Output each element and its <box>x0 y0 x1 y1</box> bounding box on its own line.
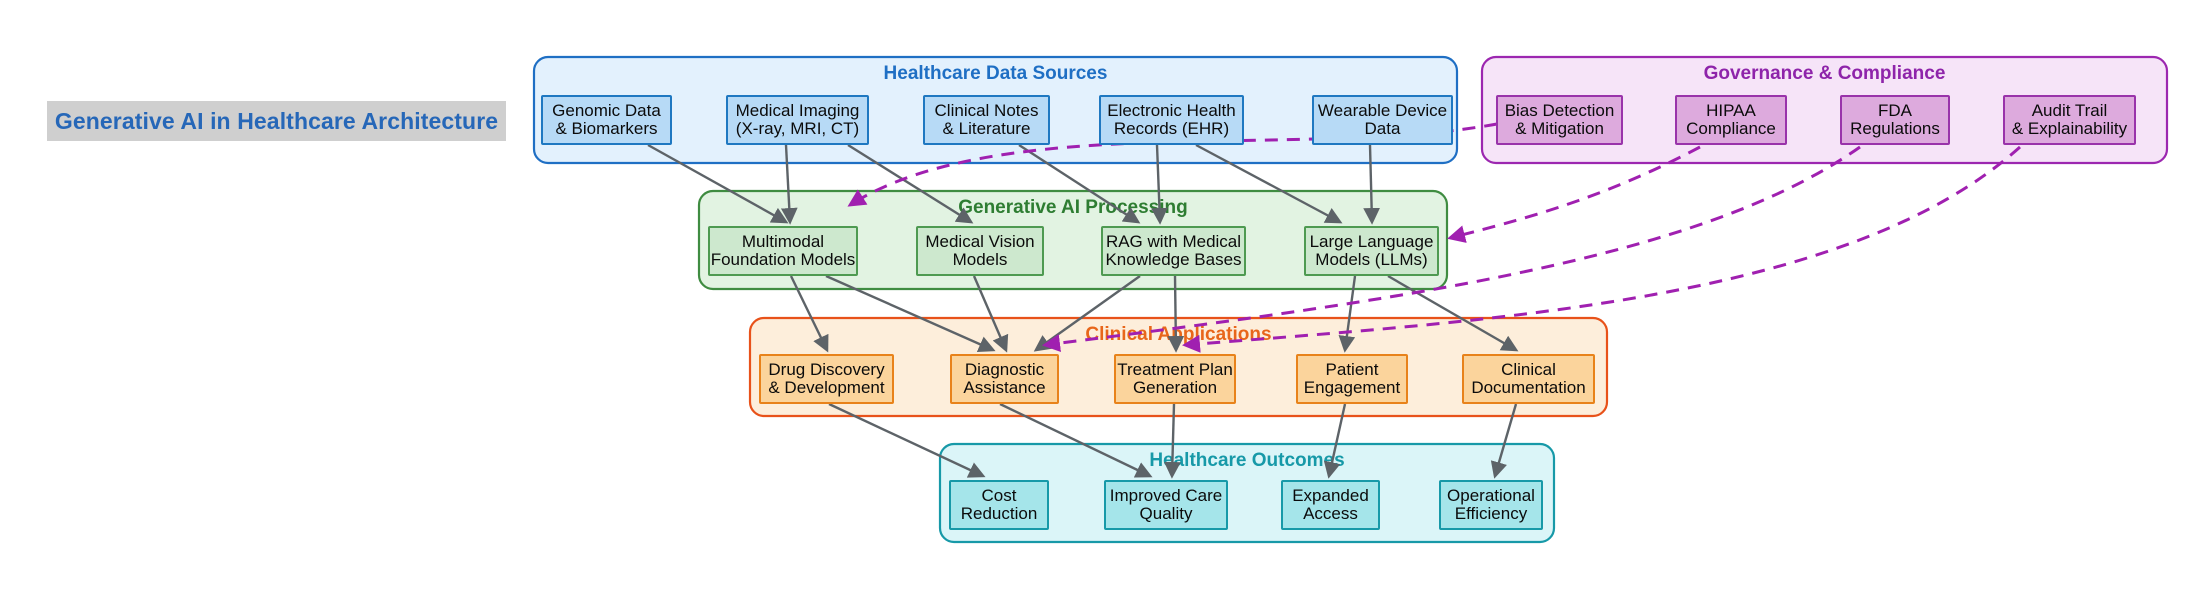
node-label-access-line1: Expanded <box>1292 486 1369 505</box>
node-label-imaging-line1: Medical Imaging <box>736 101 860 120</box>
node-label-genomic-line1: Genomic Data <box>552 101 661 120</box>
node-label-fda-line1: FDA <box>1878 101 1913 120</box>
edge-rag-to-treatment <box>1175 276 1176 350</box>
node-audit[interactable]: Audit Trail& Explainability <box>2004 96 2135 144</box>
node-label-multimodal-line1: Multimodal <box>742 232 824 251</box>
node-label-clindoc-line1: Clinical <box>1501 360 1556 379</box>
node-wearable[interactable]: Wearable DeviceData <box>1313 96 1452 144</box>
node-label-drug-line1: Drug Discovery <box>768 360 885 379</box>
node-label-bias-line1: Bias Detection <box>1505 101 1615 120</box>
node-bias[interactable]: Bias Detection& Mitigation <box>1497 96 1622 144</box>
node-label-notes-line1: Clinical Notes <box>935 101 1039 120</box>
node-label-imaging-line2: (X-ray, MRI, CT) <box>736 119 859 138</box>
node-label-wearable-line1: Wearable Device <box>1318 101 1447 120</box>
node-fda[interactable]: FDARegulations <box>1841 96 1949 144</box>
node-label-diagnostic-line1: Diagnostic <box>965 360 1045 379</box>
node-access[interactable]: ExpandedAccess <box>1282 481 1379 529</box>
node-label-patient-line2: Engagement <box>1304 378 1401 397</box>
node-label-clindoc-line2: Documentation <box>1471 378 1585 397</box>
cluster-title-governance: Governance & Compliance <box>1704 63 1946 84</box>
node-label-access-line2: Access <box>1303 504 1358 523</box>
node-label-treatment-line2: Generation <box>1133 378 1217 397</box>
node-efficiency[interactable]: OperationalEfficiency <box>1440 481 1542 529</box>
node-label-quality-line1: Improved Care <box>1110 486 1222 505</box>
node-label-rag-line2: Knowledge Bases <box>1105 250 1241 269</box>
node-clindoc[interactable]: ClinicalDocumentation <box>1463 355 1594 403</box>
node-label-ehr-line1: Electronic Health <box>1107 101 1236 120</box>
node-label-hipaa-line2: Compliance <box>1686 119 1776 138</box>
node-label-genomic-line2: & Biomarkers <box>555 119 657 138</box>
node-ehr[interactable]: Electronic HealthRecords (EHR) <box>1100 96 1243 144</box>
node-diagnostic[interactable]: DiagnosticAssistance <box>951 355 1058 403</box>
node-label-llm-line1: Large Language <box>1310 232 1434 251</box>
node-label-hipaa-line1: HIPAA <box>1706 101 1756 120</box>
architecture-flow-svg: Healthcare Data SourcesGovernance & Comp… <box>0 0 2195 601</box>
node-label-diagnostic-line2: Assistance <box>963 378 1045 397</box>
node-label-vision-line2: Models <box>953 250 1008 269</box>
cluster-title-outcomes: Healthcare Outcomes <box>1149 450 1344 471</box>
node-label-patient-line1: Patient <box>1326 360 1379 379</box>
cluster-title-data_sources: Healthcare Data Sources <box>884 63 1108 84</box>
node-multimodal[interactable]: MultimodalFoundation Models <box>709 227 857 275</box>
node-label-cost-line2: Reduction <box>961 504 1038 523</box>
edges-layer <box>648 124 2020 476</box>
node-label-audit-line2: & Explainability <box>2012 119 2128 138</box>
node-label-multimodal-line2: Foundation Models <box>711 250 856 269</box>
node-label-cost-line1: Cost <box>982 486 1017 505</box>
node-label-rag-line1: RAG with Medical <box>1106 232 1241 251</box>
diagram-root: Generative AI in Healthcare Architecture… <box>0 0 2195 601</box>
node-hipaa[interactable]: HIPAACompliance <box>1676 96 1786 144</box>
node-label-efficiency-line1: Operational <box>1447 486 1535 505</box>
node-label-treatment-line1: Treatment Plan <box>1117 360 1233 379</box>
node-notes[interactable]: Clinical Notes& Literature <box>924 96 1049 144</box>
node-label-audit-line1: Audit Trail <box>2032 101 2108 120</box>
node-patient[interactable]: PatientEngagement <box>1297 355 1407 403</box>
node-label-quality-line2: Quality <box>1140 504 1193 523</box>
node-label-ehr-line2: Records (EHR) <box>1114 119 1229 138</box>
node-label-llm-line2: Models (LLMs) <box>1315 250 1427 269</box>
cluster-title-genai: Generative AI Processing <box>958 197 1188 218</box>
node-quality[interactable]: Improved CareQuality <box>1105 481 1227 529</box>
node-llm[interactable]: Large LanguageModels (LLMs) <box>1305 227 1438 275</box>
node-vision[interactable]: Medical VisionModels <box>917 227 1043 275</box>
node-label-notes-line2: & Literature <box>943 119 1031 138</box>
node-label-wearable-line2: Data <box>1365 119 1401 138</box>
node-cost[interactable]: CostReduction <box>950 481 1048 529</box>
node-label-bias-line2: & Mitigation <box>1515 119 1604 138</box>
node-label-fda-line2: Regulations <box>1850 119 1940 138</box>
node-drug[interactable]: Drug Discovery& Development <box>760 355 893 403</box>
node-treatment[interactable]: Treatment PlanGeneration <box>1115 355 1235 403</box>
node-imaging[interactable]: Medical Imaging(X-ray, MRI, CT) <box>727 96 868 144</box>
node-label-drug-line2: & Development <box>768 378 885 397</box>
node-label-vision-line1: Medical Vision <box>925 232 1034 251</box>
node-genomic[interactable]: Genomic Data& Biomarkers <box>542 96 671 144</box>
node-label-efficiency-line2: Efficiency <box>1455 504 1528 523</box>
node-rag[interactable]: RAG with MedicalKnowledge Bases <box>1102 227 1245 275</box>
